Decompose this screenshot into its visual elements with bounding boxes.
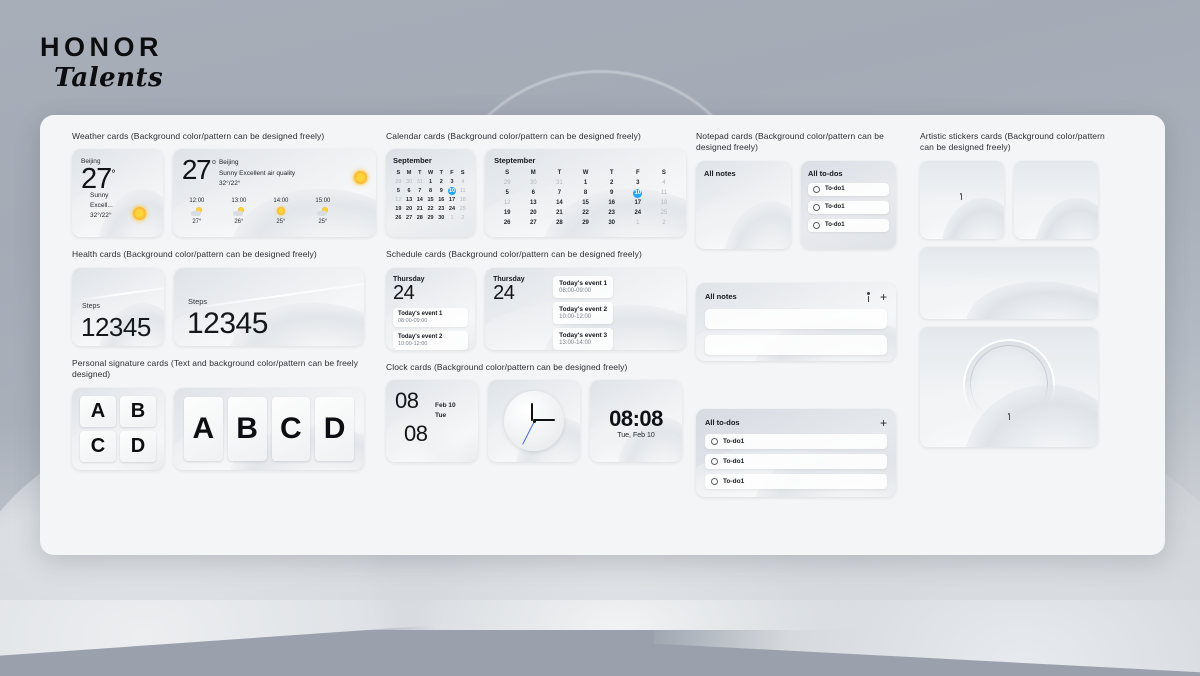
event-time: 08:00-09:00 (398, 318, 463, 324)
schedule-event[interactable]: Today's event 3 13:00-14:00 (553, 328, 613, 350)
calendar-day[interactable]: 7 (546, 189, 572, 198)
calendar-day[interactable]: 29 (393, 178, 404, 186)
weather-card-large[interactable]: 27 o Beijing Sunny Excellent air quality… (173, 149, 376, 237)
forecast-time: 14:00 (268, 198, 294, 204)
todo-item[interactable]: To-do1 (808, 219, 889, 232)
calendar-day[interactable]: 27 (404, 214, 415, 222)
calendar-day[interactable]: 24 (447, 205, 458, 213)
todos-title: All to-dos (808, 169, 889, 178)
calendar-day[interactable]: 25 (651, 209, 677, 218)
schedule-event[interactable]: Today's event 2 10:00-12:00 (553, 302, 613, 324)
health-card-small[interactable]: Steps 12345 (72, 268, 164, 346)
calendar-day[interactable]: 8 (572, 189, 598, 198)
section-title-clock: Clock cards (Background color/pattern ca… (386, 362, 686, 373)
cloud-sun-icon (184, 207, 210, 216)
add-note-button[interactable]: + (880, 291, 887, 303)
clock-center-pin (533, 420, 536, 423)
column-left: Weather cards (Background color/pattern … (54, 131, 376, 545)
sticker-card-dune-ridge[interactable] (1014, 161, 1098, 239)
clock-date-block: Feb 10 Tue (435, 401, 456, 421)
signature-letter-tile[interactable]: A (184, 397, 223, 461)
calendar-day[interactable]: 30 (599, 219, 625, 228)
calendar-grid-small[interactable]: SMTWTFS293031123456789101112131415161718… (393, 169, 468, 222)
signature-letter-tile[interactable]: D (315, 397, 354, 461)
todo-label: To-do1 (723, 458, 744, 465)
calendar-day[interactable]: 15 (572, 199, 598, 208)
todo-label: To-do1 (825, 222, 845, 228)
calendar-day[interactable]: 22 (425, 205, 436, 213)
calendar-day[interactable]: 30 (404, 178, 415, 186)
calendar-weekday-header: F (447, 169, 458, 177)
calendar-month-title: Steptember (494, 156, 677, 165)
section-title-schedule: Schedule cards (Background color/pattern… (386, 249, 686, 260)
weather-temperature: 27 (182, 157, 210, 183)
checkbox-circle-icon[interactable] (711, 458, 718, 465)
calendar-day[interactable]: 12 (393, 196, 404, 204)
steps-label: Steps (188, 297, 207, 306)
signature-letter-tile[interactable]: B (120, 396, 156, 427)
person-figure-icon (867, 292, 870, 302)
person-figure-icon (1008, 413, 1010, 420)
calendar-weekday-header: W (425, 169, 436, 177)
calendar-day[interactable]: 16 (436, 196, 447, 204)
section-title-weather: Weather cards (Background color/pattern … (72, 131, 376, 142)
section-schedule-cards: Schedule cards (Background color/pattern… (386, 249, 686, 349)
todo-item[interactable]: To-do1 (705, 454, 887, 469)
digital-clock-time: 08:08 (609, 406, 663, 432)
calendar-day[interactable]: 6 (520, 189, 546, 198)
calendar-day[interactable]: 1 (572, 179, 598, 188)
calendar-weekday-header: S (494, 169, 520, 178)
weather-range: 32°/22° (90, 211, 133, 221)
forecast-hour: 12:00 27° (184, 198, 210, 225)
todo-item[interactable]: To-do1 (808, 201, 889, 214)
section-signature-cards: Personal signature cards (Text and backg… (72, 358, 376, 470)
event-time: 13:00-14:00 (559, 340, 607, 346)
schedule-date: 24 (393, 283, 468, 304)
steps-value: 12345 (187, 309, 268, 339)
todo-label: To-do1 (723, 438, 744, 445)
weather-hourly-forecast: 12:00 27° 13:00 26° 14 (182, 198, 367, 225)
event-name: Today's event 2 (559, 306, 607, 313)
event-name: Today's event 2 (398, 334, 463, 340)
checkbox-circle-icon[interactable] (711, 478, 718, 485)
todos-card-small[interactable]: All to-dos To-do1 To-do1 T (801, 161, 896, 249)
calendar-day[interactable]: 9 (599, 189, 625, 198)
schedule-date: 24 (493, 283, 545, 304)
calendar-day[interactable]: 29 (425, 214, 436, 222)
sun-icon (268, 207, 294, 216)
calendar-day[interactable]: 2 (457, 214, 468, 222)
calendar-day-today[interactable]: 10 (448, 187, 456, 195)
sticker-card-dune-figure[interactable] (920, 161, 1004, 239)
forecast-time: 15:00 (310, 198, 336, 204)
section-artistic-cards: Artistic stickers cards (Background colo… (920, 131, 1108, 447)
section-title-calendar: Calendar cards (Background color/pattern… (386, 131, 686, 142)
brand-script: Talents (54, 65, 163, 91)
weather-card-small[interactable]: Beijing 27° Sunny Excell... 32°/22° (72, 149, 163, 237)
event-name: Today's event 1 (398, 311, 463, 317)
forecast-temp: 25° (310, 219, 336, 225)
event-time: 08:00-09:00 (559, 288, 607, 294)
calendar-day[interactable]: 18 (651, 199, 677, 208)
calendar-weekday-header: M (404, 169, 415, 177)
calendar-day[interactable]: 28 (546, 219, 572, 228)
forecast-temp: 27° (184, 219, 210, 225)
event-name: Today's event 1 (559, 280, 607, 287)
weather-degree-mark: o (212, 159, 216, 166)
calendar-day[interactable]: 12 (494, 199, 520, 208)
calendar-day[interactable]: 6 (404, 187, 415, 195)
calendar-day[interactable]: 25 (457, 205, 468, 213)
calendar-day[interactable]: 3 (625, 179, 651, 188)
calendar-weekday-header: S (393, 169, 404, 177)
calendar-day[interactable]: 14 (546, 199, 572, 208)
event-time: 10:00-12:00 (559, 314, 607, 320)
clock-hour: 08 (395, 389, 469, 412)
todos-card-wide[interactable]: All to-dos + To-do1 To-do1 (696, 409, 896, 497)
forecast-hour: 15:00 25° (310, 198, 336, 225)
calendar-day[interactable]: 4 (651, 179, 677, 188)
todo-label: To-do1 (825, 204, 845, 210)
health-card-large[interactable]: Steps 12345 (174, 268, 364, 346)
signature-letter-tile[interactable]: A (80, 396, 116, 427)
section-clock-cards: Clock cards (Background color/pattern ca… (386, 362, 686, 462)
forecast-temp: 25° (268, 219, 294, 225)
calendar-day[interactable]: 17 (625, 199, 651, 208)
section-title-health: Health cards (Background color/pattern c… (72, 249, 376, 260)
calendar-weekday-header: M (520, 169, 546, 178)
cards-showcase-panel: Weather cards (Background color/pattern … (40, 115, 1165, 555)
calendar-day[interactable]: 18 (457, 196, 468, 204)
calendar-day[interactable]: 13 (404, 196, 415, 204)
calendar-day[interactable]: 30 (520, 179, 546, 188)
calendar-grid-large[interactable]: SMTWTFS293031123456789101112131415161718… (494, 169, 677, 228)
calendar-weekday-header: T (599, 169, 625, 178)
clock-card-digital[interactable]: 08:08 Tue, Feb 10 (590, 380, 682, 462)
section-notes-wide: All notes + (696, 283, 908, 361)
calendar-day[interactable]: 11 (457, 187, 468, 195)
section-calendar-cards: Calendar cards (Background color/pattern… (386, 131, 686, 237)
calendar-day[interactable]: 24 (625, 209, 651, 218)
clock-card-flip[interactable]: 08 Feb 10 Tue 08 (386, 380, 478, 462)
calendar-day[interactable]: 20 (520, 209, 546, 218)
schedule-card-small[interactable]: Thursday 24 Today's event 1 08:00-09:00 … (386, 268, 475, 350)
todo-label: To-do1 (723, 478, 744, 485)
digital-clock-date: Tue, Feb 10 (617, 432, 655, 439)
calendar-card-small[interactable]: September SMTWTFS29303112345678910111213… (386, 149, 475, 237)
calendar-weekday-header: S (651, 169, 677, 178)
section-title-notepad: Notepad cards (Background color/pattern … (696, 131, 908, 154)
forecast-hour: 14:00 25° (268, 198, 294, 225)
calendar-day[interactable]: 20 (404, 205, 415, 213)
calendar-day[interactable]: 19 (393, 205, 404, 213)
todo-item[interactable]: To-do1 (705, 474, 887, 489)
calendar-day[interactable]: 9 (436, 187, 447, 195)
calendar-day[interactable]: 2 (436, 178, 447, 186)
calendar-day[interactable]: 1 (447, 214, 458, 222)
calendar-day[interactable]: 28 (414, 214, 425, 222)
checkbox-circle-icon[interactable] (813, 222, 820, 229)
schedule-event[interactable]: Today's event 2 10:00-12:00 (393, 331, 468, 350)
calendar-day[interactable]: 2 (599, 179, 625, 188)
calendar-day[interactable]: 23 (599, 209, 625, 218)
clock-card-analog[interactable] (488, 380, 580, 462)
calendar-day[interactable]: 2 (651, 219, 677, 228)
section-notepad-cards: Notepad cards (Background color/pattern … (696, 131, 908, 249)
cloud-sun-icon (226, 207, 252, 216)
sun-icon (133, 207, 146, 220)
clock-weekday: Tue (435, 411, 456, 421)
calendar-day[interactable]: 3 (447, 178, 458, 186)
add-todo-button[interactable]: + (880, 417, 887, 429)
calendar-day[interactable]: 8 (425, 187, 436, 195)
signature-letter-tile[interactable]: B (228, 397, 267, 461)
calendar-weekday-header: T (546, 169, 572, 178)
calendar-card-large[interactable]: Steptember SMTWTFS2930311234567891011121… (485, 149, 686, 237)
calendar-day[interactable]: 13 (520, 199, 546, 208)
calendar-day[interactable]: 31 (546, 179, 572, 188)
signature-letter-tile[interactable]: C (80, 431, 116, 462)
todos-title: All to-dos (705, 418, 740, 427)
schedule-event[interactable]: Today's event 1 08:00-09:00 (393, 308, 468, 327)
person-figure-icon (960, 193, 962, 200)
calendar-day[interactable]: 29 (572, 219, 598, 228)
todo-item[interactable]: To-do1 (705, 434, 887, 449)
clock-minute: 08 (404, 422, 427, 445)
calendar-day[interactable]: 30 (436, 214, 447, 222)
forecast-time: 12:00 (184, 198, 210, 204)
calendar-weekday-header: F (625, 169, 651, 178)
notes-title: All notes (705, 292, 737, 301)
signature-letter-tile[interactable]: D (120, 431, 156, 462)
calendar-day[interactable]: 22 (572, 209, 598, 218)
calendar-month-title: September (393, 156, 468, 165)
notes-card-wide[interactable]: All notes + (696, 283, 896, 361)
brand-wordmark: HONOR (40, 34, 163, 61)
calendar-day[interactable]: 26 (494, 219, 520, 228)
section-weather-cards: Weather cards (Background color/pattern … (72, 131, 376, 237)
calendar-day[interactable]: 5 (494, 189, 520, 198)
calendar-day[interactable]: 26 (393, 214, 404, 222)
calendar-day-today[interactable]: 10 (633, 189, 642, 198)
calendar-day[interactable]: 21 (414, 205, 425, 213)
calendar-day[interactable]: 15 (425, 196, 436, 204)
calendar-day[interactable]: 7 (414, 187, 425, 195)
column-notepad: Notepad cards (Background color/pattern … (686, 131, 908, 545)
calendar-day[interactable]: 29 (494, 179, 520, 188)
calendar-day[interactable]: 23 (436, 205, 447, 213)
sun-icon (354, 171, 367, 184)
weather-condition: Sunny Excellent air quality (219, 169, 295, 179)
calendar-weekday-header: W (572, 169, 598, 178)
sticker-card-arch[interactable] (920, 327, 1098, 447)
calendar-day[interactable]: 5 (393, 187, 404, 195)
calendar-day[interactable]: 21 (546, 209, 572, 218)
event-name: Today's event 3 (559, 332, 607, 339)
calendar-day[interactable]: 31 (414, 178, 425, 186)
weather-city: Beijing (219, 158, 295, 168)
steps-value: 12345 (81, 314, 151, 340)
signature-card-row[interactable]: A B C D (174, 388, 364, 470)
section-title-artistic: Artistic stickers cards (Background colo… (920, 131, 1108, 154)
notes-card-small[interactable]: All notes (696, 161, 791, 249)
calendar-day[interactable]: 17 (447, 196, 458, 204)
calendar-day[interactable]: 19 (494, 209, 520, 218)
forecast-hour: 13:00 26° (226, 198, 252, 225)
checkbox-circle-icon[interactable] (813, 186, 820, 193)
notes-title: All notes (704, 169, 783, 178)
calendar-weekday-header: S (457, 169, 468, 177)
signature-card-grid[interactable]: A B C D (72, 388, 164, 470)
calendar-day[interactable]: 14 (414, 196, 425, 204)
section-title-signature: Personal signature cards (Text and backg… (72, 358, 376, 381)
schedule-card-large[interactable]: Thursday 24 Today's event 1 08:00-09:00 … (485, 268, 686, 350)
checkbox-circle-icon[interactable] (711, 438, 718, 445)
note-row[interactable] (705, 335, 887, 355)
calendar-day[interactable]: 11 (651, 189, 677, 198)
steps-label: Steps (82, 303, 100, 310)
weather-range: 32°/22° (219, 179, 295, 189)
cloud-sun-icon (310, 207, 336, 216)
note-row[interactable] (705, 309, 887, 329)
calendar-day[interactable]: 1 (625, 219, 651, 228)
signature-letter-tile[interactable]: C (272, 397, 311, 461)
calendar-weekday-header: T (414, 169, 425, 177)
column-artistic: Artistic stickers cards (Background colo… (908, 131, 1108, 545)
section-health-cards: Health cards (Background color/pattern c… (72, 249, 376, 345)
todo-label: To-do1 (825, 186, 845, 192)
calendar-weekday-header: T (436, 169, 447, 177)
schedule-event[interactable]: Today's event 1 08:00-09:00 (553, 276, 613, 298)
column-middle: Calendar cards (Background color/pattern… (376, 131, 686, 545)
brand-logo: HONOR Talents (40, 34, 163, 91)
forecast-temp: 26° (226, 219, 252, 225)
clock-date: Feb 10 (435, 401, 456, 411)
section-todos-wide: All to-dos + To-do1 To-do1 (696, 409, 908, 497)
calendar-day[interactable]: 27 (520, 219, 546, 228)
todo-item[interactable]: To-do1 (808, 183, 889, 196)
calendar-day[interactable]: 1 (425, 178, 436, 186)
calendar-day[interactable]: 4 (457, 178, 468, 186)
weather-description: Sunny Excell... (90, 191, 133, 211)
calendar-day[interactable]: 16 (599, 199, 625, 208)
sticker-card-dune-wide[interactable] (920, 247, 1098, 319)
checkbox-circle-icon[interactable] (813, 204, 820, 211)
forecast-time: 13:00 (226, 198, 252, 204)
weather-temperature: 27° (81, 166, 154, 194)
event-time: 10:00-12:00 (398, 341, 463, 347)
